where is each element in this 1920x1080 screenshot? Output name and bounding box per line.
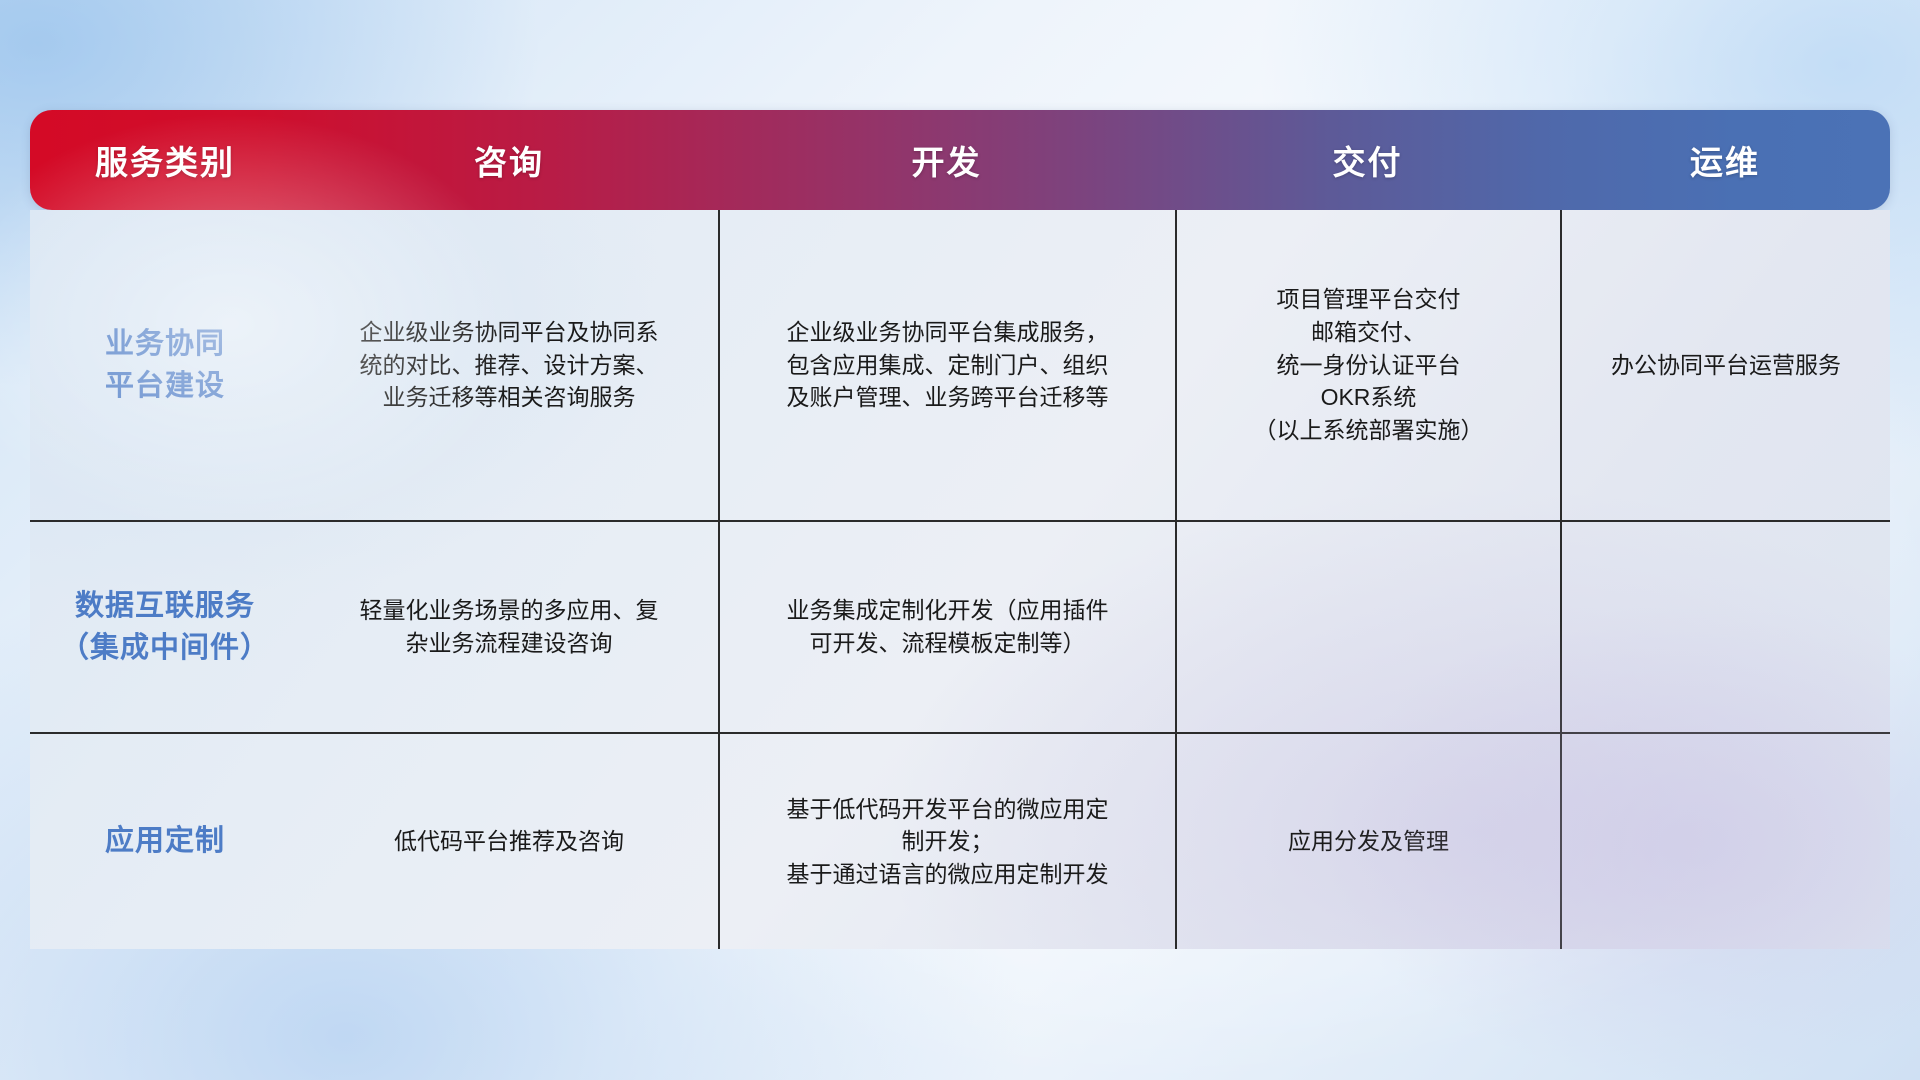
cell-development: 基于低代码开发平台的微应用定 制开发； 基于通过语言的微应用定制开发 [718,734,1175,949]
cell-consulting: 低代码平台推荐及咨询 [300,734,718,949]
cell-development: 企业级业务协同平台集成服务， 包含应用集成、定制门户、组织 及账户管理、业务跨平… [718,210,1175,520]
row-category-label: 数据互联服务 （集成中间件） [30,522,300,732]
table-row: 业务协同 平台建设 企业级业务协同平台及协同系 统的对比、推荐、设计方案、 业务… [30,210,1890,520]
cell-consulting: 轻量化业务场景的多应用、复 杂业务流程建设咨询 [300,522,718,732]
cell-operations [1560,522,1890,732]
row-category-label: 业务协同 平台建设 [30,210,300,520]
cell-development: 业务集成定制化开发（应用插件 可开发、流程模板定制等） [718,522,1175,732]
table-header-row: 服务类别 咨询 开发 交付 运维 [30,110,1890,210]
table-row: 数据互联服务 （集成中间件） 轻量化业务场景的多应用、复 杂业务流程建设咨询 业… [30,520,1890,732]
table-row: 应用定制 低代码平台推荐及咨询 基于低代码开发平台的微应用定 制开发； 基于通过… [30,732,1890,949]
cell-delivery [1175,522,1560,732]
service-category-table: 服务类别 咨询 开发 交付 运维 业务协同 平台建设 企业级业务协同平台及协同系… [30,110,1890,949]
column-header-operations: 运维 [1560,110,1890,210]
column-header-development: 开发 [718,110,1175,210]
column-header-consulting: 咨询 [300,110,718,210]
column-header-delivery: 交付 [1175,110,1560,210]
cell-delivery: 项目管理平台交付 邮箱交付、 统一身份认证平台 OKR系统 （以上系统部署实施） [1175,210,1560,520]
cell-delivery: 应用分发及管理 [1175,734,1560,949]
row-category-label: 应用定制 [30,734,300,949]
column-header-category: 服务类别 [30,110,300,210]
table-body: 业务协同 平台建设 企业级业务协同平台及协同系 统的对比、推荐、设计方案、 业务… [30,210,1890,949]
cell-operations: 办公协同平台运营服务 [1560,210,1890,520]
cell-consulting: 企业级业务协同平台及协同系 统的对比、推荐、设计方案、 业务迁移等相关咨询服务 [300,210,718,520]
cell-operations [1560,734,1890,949]
page-background: 服务类别 咨询 开发 交付 运维 业务协同 平台建设 企业级业务协同平台及协同系… [0,0,1920,1080]
